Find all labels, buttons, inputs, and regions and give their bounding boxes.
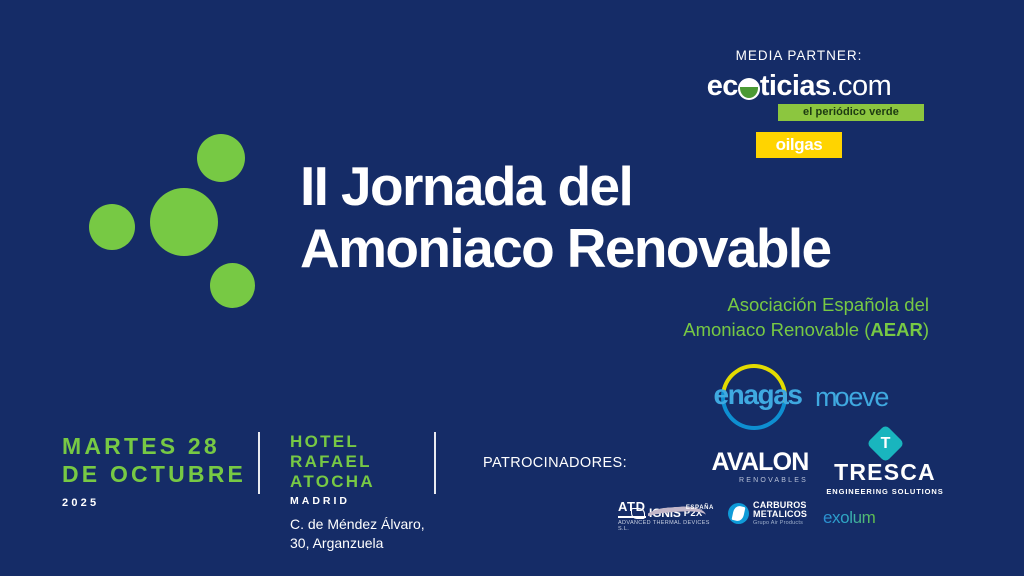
title-line-2: Amoniaco Renovable xyxy=(300,217,940,279)
tresca-tagline: ENGINEERING SOLUTIONS xyxy=(825,487,945,496)
sponsors-label: PATROCINADORES: xyxy=(483,455,627,471)
avalon-tagline: RENOVABLES xyxy=(710,477,810,484)
sponsor-logo-tresca: TRESCA ENGINEERING SOLUTIONS xyxy=(825,430,945,496)
molecule-dot-left-icon xyxy=(89,204,135,250)
subtitle-suffix: ) xyxy=(923,319,929,340)
title-line-1: II Jornada del xyxy=(300,155,940,217)
organization-acronym: AEAR xyxy=(870,319,922,340)
leaf-circle-icon xyxy=(738,78,760,100)
carburos-wordmark-line-2: METALICOS xyxy=(753,510,807,519)
subtitle-line-2: Amoniaco Renovable (AEAR) xyxy=(409,317,929,342)
enagas-wordmark: enagas xyxy=(705,381,810,409)
venue-name-line-2: RAFAEL xyxy=(290,452,440,472)
divider-left xyxy=(258,432,260,494)
date-line-1: MARTES 28 xyxy=(62,432,246,460)
sponsor-logo-enagas: enagas xyxy=(705,362,810,424)
moeve-wordmark: moeve xyxy=(815,384,888,411)
tresca-wordmark: TRESCA xyxy=(825,461,945,484)
molecule-dot-top-icon xyxy=(197,134,245,182)
organization-subtitle: Asociación Española del Amoniaco Renovab… xyxy=(409,292,929,342)
sponsor-logo-moeve: moeve xyxy=(815,384,888,411)
atd-swoosh-icon: ESPAÑA xyxy=(648,502,718,516)
page-title: II Jornada del Amoniaco Renovable xyxy=(300,155,940,279)
ecoticias-logo: ec ticias .com xyxy=(674,72,924,101)
media-partner-block: MEDIA PARTNER: ec ticias .com el periódi… xyxy=(674,48,924,158)
venue-name-line-1: HOTEL xyxy=(290,432,440,452)
molecule-dot-large-icon xyxy=(150,188,218,256)
ignis-mark-icon xyxy=(631,508,645,519)
venue-address: C. de Méndez Álvaro, 30, Arganzuela xyxy=(290,515,440,553)
sponsor-logo-carburos-metalicos: CARBUROS METALICOS Grupo Air Products xyxy=(728,501,807,527)
venue-name-line-3: ATOCHA xyxy=(290,472,440,492)
event-poster: MEDIA PARTNER: ec ticias .com el periódi… xyxy=(0,0,1024,576)
carburos-tagline: Grupo Air Products xyxy=(753,521,807,527)
date-line-2: DE OCTUBRE xyxy=(62,460,246,488)
event-date-block: MARTES 28 DE OCTUBRE 2025 xyxy=(62,432,246,509)
sponsor-logo-avalon: AVALON RENOVABLES xyxy=(710,450,810,484)
venue-block: HOTEL RAFAEL ATOCHA MADRID C. de Méndez … xyxy=(290,432,440,553)
oilgas-label: oilgas xyxy=(776,135,823,155)
ecoticias-lead: ec xyxy=(707,72,738,101)
media-partner-label: MEDIA PARTNER: xyxy=(674,48,924,63)
molecule-dot-bottom-icon xyxy=(210,263,255,308)
atd-region-label: ESPAÑA xyxy=(686,505,714,511)
venue-city: MADRID xyxy=(290,495,440,507)
subtitle-prefix: Amoniaco Renovable ( xyxy=(683,319,870,340)
subtitle-line-1: Asociación Española del xyxy=(409,292,929,317)
ecoticias-mid: ticias xyxy=(760,72,831,101)
sponsor-logo-exolum: exolum xyxy=(823,508,875,528)
secondary-sponsor-logos: IGNIS P2X CARBUROS METALICOS Grupo Air P… xyxy=(618,500,1004,532)
tresca-diamond-icon xyxy=(866,424,904,462)
carburos-mark-icon xyxy=(728,503,749,524)
date-year: 2025 xyxy=(62,497,246,509)
ecoticias-tagline: el periódico verde xyxy=(778,104,924,121)
ecoticias-suffix: .com xyxy=(830,72,891,101)
exolum-wordmark: exolum xyxy=(823,508,875,528)
avalon-wordmark: AVALON xyxy=(710,450,810,475)
atd-tagline: ADVANCED THERMAL DEVICES S.L. xyxy=(618,520,718,532)
